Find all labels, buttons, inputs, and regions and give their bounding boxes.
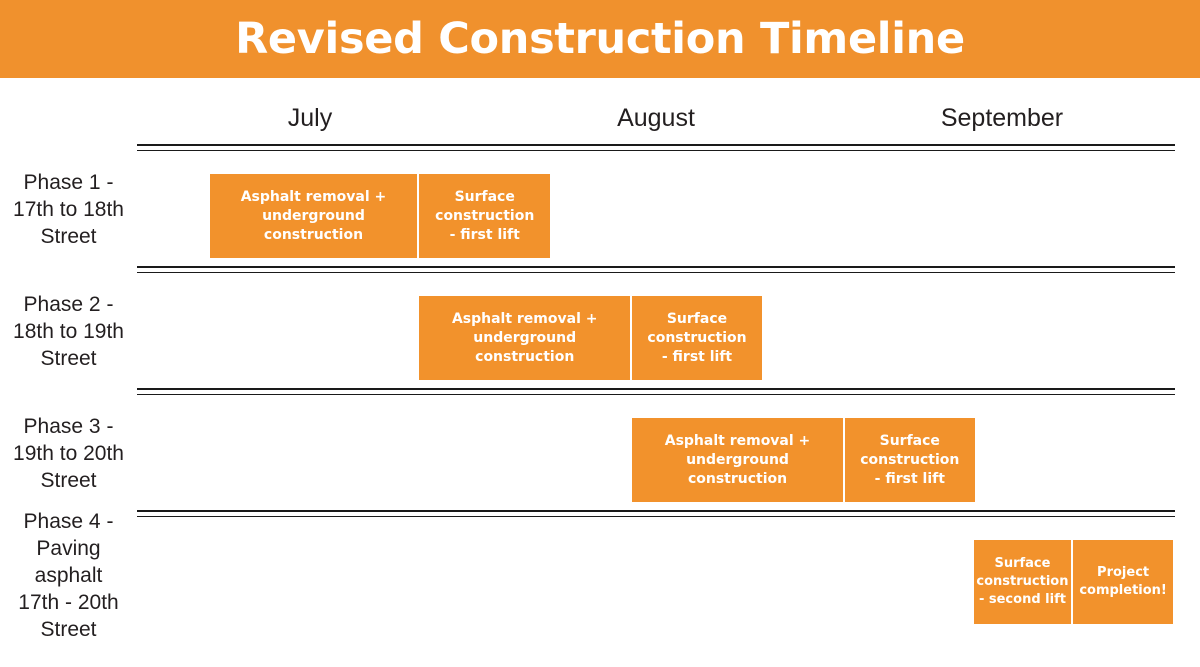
timeline-bar[interactable]: Asphalt removal +underground constructio…	[419, 296, 632, 380]
timeline-bar[interactable]: Asphalt removal +underground constructio…	[632, 418, 845, 502]
timeline-bar-label: Asphalt removal +underground constructio…	[425, 310, 624, 367]
timeline-bar[interactable]: Projectcompletion!	[1073, 540, 1173, 624]
phase-bars-area: Surfaceconstruction- second liftProjectc…	[137, 514, 1175, 636]
month-label-july: July	[288, 104, 332, 133]
timeline-bar-label: Projectcompletion!	[1079, 564, 1167, 600]
phase-row-label-text: Phase 1 -17th to 18thStreet	[13, 169, 124, 250]
phase-row: Phase 4 -Paving asphalt17th - 20thStreet…	[0, 514, 1200, 636]
timeline-bar[interactable]: Surfaceconstruction- first lift	[845, 418, 975, 502]
month-column-august: August	[483, 92, 829, 144]
month-column-september: September	[829, 92, 1175, 144]
timeline-bar[interactable]: Surfaceconstruction- second lift	[974, 540, 1074, 624]
timeline-bar-label: Surfaceconstruction- first lift	[647, 310, 746, 367]
phase-row: Phase 3 -19th to 20thStreetAsphalt remov…	[0, 392, 1200, 514]
timeline-bar-label: Asphalt removal +underground constructio…	[216, 188, 412, 245]
month-label-august: August	[617, 104, 695, 133]
timeline-bar[interactable]: Surfaceconstruction- first lift	[419, 174, 550, 258]
month-column-july: July	[137, 92, 483, 144]
title-banner: Revised Construction Timeline	[0, 0, 1200, 78]
phase-row: Phase 2 -18th to 19thStreetAsphalt remov…	[0, 270, 1200, 392]
phase-row-label-text: Phase 3 -19th to 20thStreet	[13, 413, 124, 494]
phase-bars-area: Asphalt removal +underground constructio…	[137, 270, 1175, 392]
phase-row-label: Phase 2 -18th to 19thStreet	[0, 270, 137, 392]
page-title: Revised Construction Timeline	[235, 14, 965, 64]
phase-row-label-text: Phase 2 -18th to 19thStreet	[13, 291, 124, 372]
month-header-row: July August September	[137, 92, 1175, 144]
timeline-page: Revised Construction Timeline July Augus…	[0, 0, 1200, 667]
phase-bars-area: Asphalt removal +underground constructio…	[137, 392, 1175, 514]
phase-row-label: Phase 1 -17th to 18thStreet	[0, 148, 137, 270]
phase-bars-area: Asphalt removal +underground constructio…	[137, 148, 1175, 270]
timeline-bar-label: Asphalt removal +underground constructio…	[638, 432, 837, 489]
timeline-bar[interactable]: Asphalt removal +underground constructio…	[210, 174, 420, 258]
timeline-bar[interactable]: Surfaceconstruction- first lift	[632, 296, 762, 380]
phase-row-label-text: Phase 4 -Paving asphalt17th - 20thStreet	[4, 508, 133, 643]
timeline-bar-label: Surfaceconstruction- first lift	[435, 188, 534, 245]
timeline-bar-label: Surfaceconstruction- first lift	[860, 432, 959, 489]
phase-row: Phase 1 -17th to 18thStreetAsphalt remov…	[0, 148, 1200, 270]
timeline-bar-label: Surfaceconstruction- second lift	[976, 555, 1068, 609]
phase-row-label: Phase 4 -Paving asphalt17th - 20thStreet	[0, 514, 137, 636]
month-label-september: September	[941, 104, 1063, 133]
phase-row-label: Phase 3 -19th to 20thStreet	[0, 392, 137, 514]
